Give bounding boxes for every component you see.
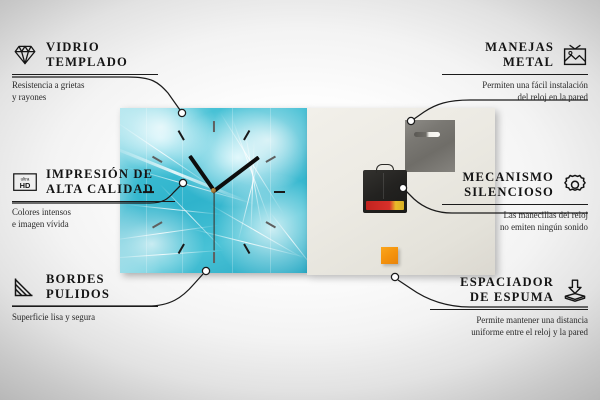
feature-desc: Las manecillas del reloj no emiten ningú… (442, 209, 588, 233)
foam-spacer-icon (562, 278, 588, 302)
feature-desc: Permite mantener una distancia uniforme … (430, 314, 588, 338)
feature-title: VIDRIO TEMPLADO (46, 40, 128, 71)
feature-title: ESPACIADOR DE ESPUMA (460, 275, 554, 306)
feature-espaciador-espuma: ESPACIADOR DE ESPUMA Permite mantener un… (430, 275, 588, 338)
polished-edges-icon (12, 275, 38, 299)
feature-title: IMPRESIÓN DE ALTA CALIDAD (46, 167, 154, 198)
feature-desc: Resistencia a grietas y rayones (12, 79, 158, 103)
diamond-icon (12, 43, 38, 67)
svg-text:HD: HD (20, 181, 31, 190)
feature-mecanismo-silencioso: MECANISMO SILENCIOSO Las manecillas del … (442, 170, 588, 233)
divider (12, 306, 158, 307)
divider (12, 201, 175, 202)
feature-bordes-pulidos: BORDES PULIDOS Superficie lisa y segura (12, 272, 158, 323)
divider (430, 309, 588, 310)
feature-desc: Colores intensos e imagen vívida (12, 206, 175, 230)
feature-title: MANEJAS METAL (485, 40, 554, 71)
feature-impresion-alta-calidad: ultra HD IMPRESIÓN DE ALTA CALIDAD Color… (12, 167, 175, 230)
gear-icon (562, 173, 588, 197)
feature-title: BORDES PULIDOS (46, 272, 110, 303)
feature-manejas-metal: MANEJAS METAL Permiten una fácil instala… (442, 40, 588, 103)
feature-desc: Permiten una fácil instalación del reloj… (425, 79, 588, 103)
infographic-canvas: VIDRIO TEMPLADO Resistencia a grietas y … (0, 0, 600, 400)
ultra-hd-icon: ultra HD (12, 170, 38, 194)
feature-desc: Superficie lisa y segura (12, 311, 158, 323)
feature-vidrio-templado: VIDRIO TEMPLADO Resistencia a grietas y … (12, 40, 158, 103)
divider (12, 74, 158, 75)
picture-frame-icon (562, 43, 588, 67)
divider (442, 204, 588, 205)
divider (442, 74, 588, 75)
feature-title: MECANISMO SILENCIOSO (462, 170, 554, 201)
